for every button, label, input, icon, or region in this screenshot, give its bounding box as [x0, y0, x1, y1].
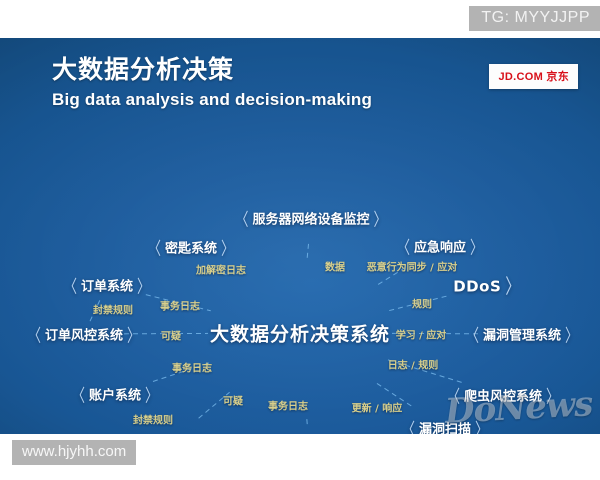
- node-label: 订单风控系统: [45, 325, 123, 344]
- page-title-cn: 大数据分析决策: [52, 56, 372, 84]
- diagram-node-key[interactable]: 〈密匙系统〉: [148, 238, 234, 257]
- edge-label: 规则: [412, 296, 432, 311]
- edge-label: 数据: [325, 259, 345, 274]
- node-bracket-left-icon: 〈: [64, 272, 77, 298]
- node-bracket-left-icon: 〈: [447, 382, 460, 408]
- edge-label: 恶意行为同步 / 应对: [367, 259, 458, 274]
- diagram-node-emergency[interactable]: 〈应急响应〉: [397, 237, 483, 256]
- presentation-slide: 大数据分析决策 Big data analysis and decision-m…: [0, 38, 600, 434]
- edge-label: 加解密日志: [196, 262, 246, 277]
- edge-label: 封禁规则: [93, 302, 133, 317]
- edge-label: 更新 / 响应: [352, 400, 403, 415]
- node-label: 订单系统: [81, 276, 133, 295]
- node-bracket-left-icon: 〈: [148, 234, 161, 260]
- edge-label: 封禁规则: [133, 412, 173, 427]
- diagram-node-order-risk[interactable]: 〈订单风控系统〉: [28, 325, 140, 344]
- diagram-node-account[interactable]: 〈账户系统〉: [72, 385, 158, 404]
- diagram-edge: [307, 241, 309, 257]
- diagram-node-center[interactable]: 〈大数据分析决策系统〉: [210, 320, 390, 347]
- node-label: 密匙系统: [165, 238, 217, 257]
- node-bracket-right-icon: 〉: [211, 431, 224, 434]
- node-bracket-left-icon: 〈: [402, 415, 415, 434]
- node-bracket-right-icon: 〉: [127, 321, 140, 347]
- node-bracket-right-icon: 〉: [137, 272, 150, 298]
- edge-label: 事务日志: [268, 398, 308, 413]
- edge-label: 日志 / 规则: [388, 357, 439, 372]
- node-label: 服务器网络设备监控: [252, 209, 369, 228]
- diagram-node-vuln-mgmt[interactable]: 〈漏洞管理系统〉: [466, 325, 578, 344]
- slide-header: 大数据分析决策 Big data analysis and decision-m…: [52, 56, 372, 110]
- node-label: 应急响应: [414, 237, 466, 256]
- edge-label: 可疑: [161, 328, 181, 343]
- node-bracket-right-icon: 〉: [145, 381, 158, 407]
- node-bracket-left-icon: 〈: [28, 321, 41, 347]
- node-bracket-right-icon: 〉: [565, 321, 578, 347]
- diagram-node-crawler-risk[interactable]: 〈爬虫风控系统〉: [447, 386, 559, 405]
- node-bracket-right-icon: 〉: [374, 205, 387, 231]
- diagram-node-server[interactable]: 〈服务器网络设备监控〉: [235, 209, 386, 228]
- node-bracket-left-icon: 〈: [466, 321, 479, 347]
- node-label: 大数据分析决策系统: [210, 320, 390, 347]
- edge-label: 事务日志: [172, 360, 212, 375]
- node-bracket-left-icon: 〈: [112, 431, 125, 434]
- node-bracket-left-icon: 〈: [72, 381, 85, 407]
- node-label: 漏洞扫描: [419, 419, 471, 435]
- node-bracket-left-icon: 〈: [397, 233, 410, 259]
- jd-logo: JD.COM 京东: [489, 64, 578, 89]
- node-bracket-right-icon: 〉: [505, 272, 521, 300]
- page-title-en: Big data analysis and decision-making: [52, 90, 372, 110]
- node-bracket-right-icon: 〉: [546, 382, 559, 408]
- edge-label: 事务日志: [160, 298, 200, 313]
- edge-label: 学习 / 应对: [396, 327, 447, 342]
- node-label: 账户系统: [89, 385, 141, 404]
- node-bracket-right-icon: 〉: [221, 234, 234, 260]
- node-bracket-right-icon: 〉: [470, 233, 483, 259]
- diagram-node-vuln-scan[interactable]: 〈漏洞扫描〉: [402, 419, 488, 435]
- diagram-node-ddos[interactable]: 〈DDoS〉: [453, 276, 521, 297]
- node-bracket-right-icon: 〉: [475, 415, 488, 434]
- node-label: DDoS: [453, 277, 501, 295]
- site-url-watermark: www.hjyhh.com: [12, 440, 136, 465]
- node-bracket-left-icon: 〈: [235, 205, 248, 231]
- node-label: 爬虫风控系统: [464, 386, 542, 405]
- diagram-node-order[interactable]: 〈订单系统〉: [64, 276, 150, 295]
- jd-logo-text: JD.COM 京东: [498, 71, 569, 83]
- telegram-watermark: TG: MYYJJPP: [469, 6, 600, 31]
- edge-label: 可疑: [223, 393, 243, 408]
- node-label: 漏洞管理系统: [483, 325, 561, 344]
